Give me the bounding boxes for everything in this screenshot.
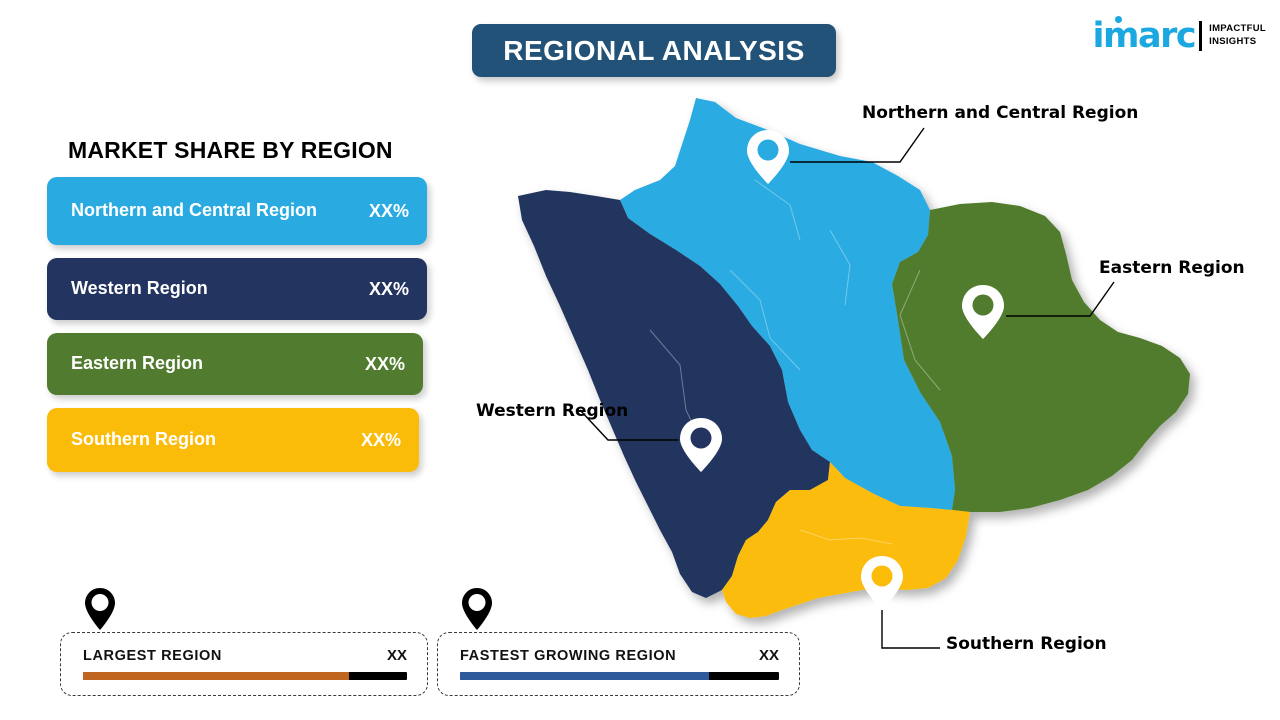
largest-region-label: LARGEST REGION xyxy=(83,648,222,664)
logo-tagline: IMPACTFUL INSIGHTS xyxy=(1209,23,1266,49)
page-title: REGIONAL ANALYSIS xyxy=(503,35,805,67)
fastest-growing-region-label: FASTEST GROWING REGION xyxy=(460,648,676,664)
logo-dot-icon xyxy=(1115,16,1122,23)
map-pin-southern[interactable] xyxy=(861,556,903,610)
logo-tagline-line1: IMPACTFUL xyxy=(1209,23,1266,36)
saudi-arabia-region-map xyxy=(500,70,1260,650)
fastest-growing-region-progress-fill xyxy=(460,672,709,680)
legend-item-label: Northern and Central Region xyxy=(71,200,317,222)
legend-heading: MARKET SHARE BY REGION xyxy=(68,137,393,164)
fastest-growing-region-progress-track xyxy=(460,672,779,680)
fastest-growing-region-row: FASTEST GROWING REGION XX xyxy=(460,647,779,664)
largest-region-row: LARGEST REGION XX xyxy=(83,647,407,664)
legend-item-label: Western Region xyxy=(71,278,208,300)
legend-item-value: XX% xyxy=(369,279,409,300)
legend-item-label: Southern Region xyxy=(71,429,216,451)
location-pin-icon xyxy=(460,587,494,631)
map-pin-inner-circle xyxy=(691,428,712,449)
map-callout-western: Western Region xyxy=(476,401,628,421)
largest-region-progress-track xyxy=(83,672,407,680)
logo-divider xyxy=(1199,21,1202,51)
legend-item-value: XX% xyxy=(369,201,409,222)
leader-line-southern xyxy=(882,610,940,648)
imarc-logo: imarc IMPACTFUL INSIGHTS xyxy=(1093,14,1266,58)
legend-item-northern-and-central[interactable]: Northern and Central Region XX% xyxy=(47,177,427,245)
legend-list: Northern and Central Region XX% Western … xyxy=(47,177,437,485)
legend-item-value: XX% xyxy=(361,430,401,451)
largest-region-card[interactable]: LARGEST REGION XX xyxy=(60,632,428,696)
location-pin-icon xyxy=(83,587,117,631)
legend-item-eastern[interactable]: Eastern Region XX% xyxy=(47,333,423,395)
map-pin-inner-circle xyxy=(872,566,893,587)
fastest-growing-region-card[interactable]: FASTEST GROWING REGION XX xyxy=(437,632,800,696)
legend-item-value: XX% xyxy=(365,354,405,375)
fastest-growing-region-value: XX xyxy=(759,647,779,664)
legend-item-southern[interactable]: Southern Region XX% xyxy=(47,408,419,472)
map-pin-inner-circle xyxy=(758,140,779,161)
largest-region-value: XX xyxy=(387,647,407,664)
logo-wordmark: imarc xyxy=(1093,19,1196,54)
logo-tagline-line2: INSIGHTS xyxy=(1209,36,1266,49)
map-pin-inner-circle xyxy=(973,295,994,316)
map-callout-southern: Southern Region xyxy=(946,634,1107,654)
map-callout-eastern: Eastern Region xyxy=(1099,258,1245,278)
legend-item-western[interactable]: Western Region XX% xyxy=(47,258,427,320)
largest-region-progress-fill xyxy=(83,672,349,680)
legend-item-label: Eastern Region xyxy=(71,353,203,375)
map-callout-northern-and-central: Northern and Central Region xyxy=(862,103,1138,123)
